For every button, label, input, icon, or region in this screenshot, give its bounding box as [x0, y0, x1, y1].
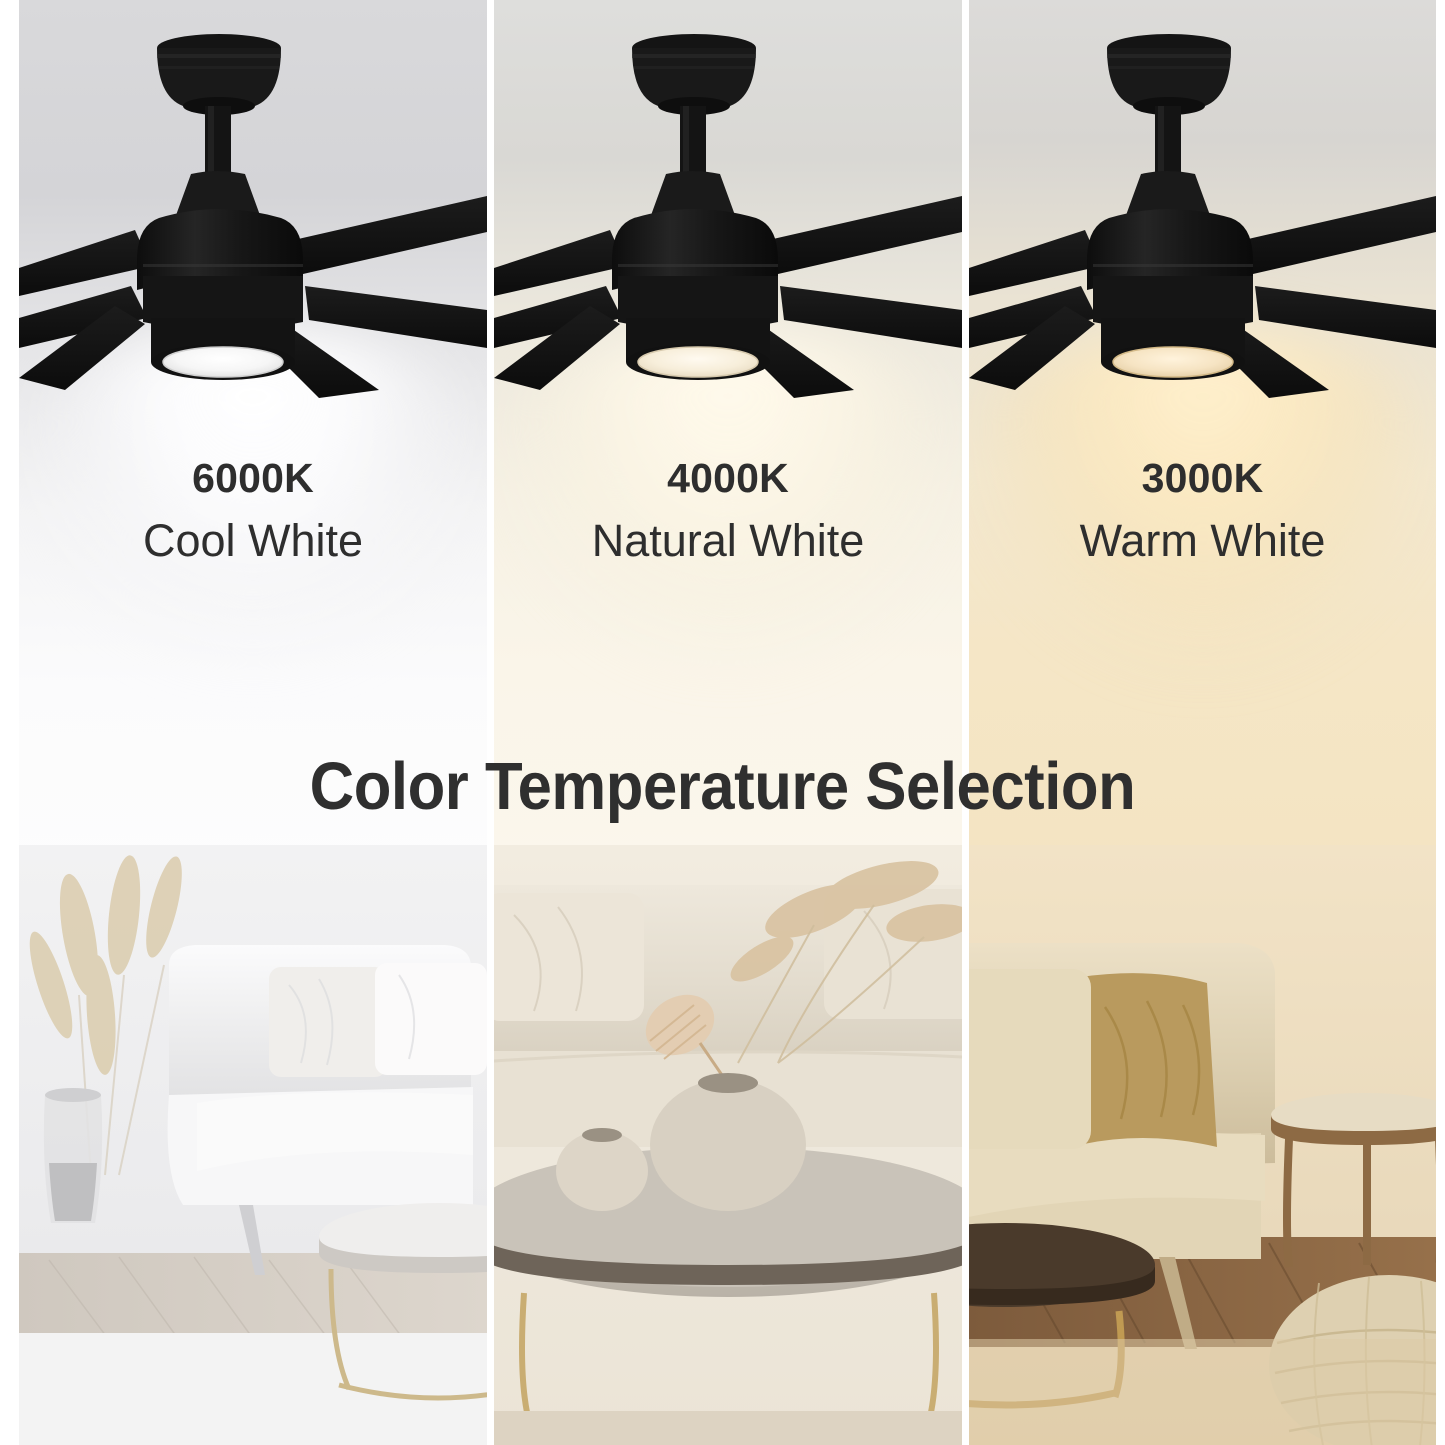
ceiling-fan-natural — [494, 18, 962, 398]
color-name: Warm White — [969, 512, 1436, 571]
ceiling-canopy — [1107, 34, 1231, 115]
led-light-panel — [638, 347, 758, 377]
label-block-natural: 4000K Natural White — [494, 455, 962, 571]
ceiling-fan-warm — [969, 18, 1436, 398]
color-name: Natural White — [494, 512, 962, 571]
kelvin-value: 6000K — [19, 455, 487, 502]
temperature-panels: 6000K Cool White — [19, 0, 1436, 1445]
room-scene-cool — [19, 845, 487, 1445]
panel-cool-white[interactable]: 6000K Cool White — [19, 0, 487, 1445]
kelvin-value: 4000K — [494, 455, 962, 502]
room-scene-natural — [494, 845, 962, 1445]
led-light-panel — [1113, 347, 1233, 377]
kelvin-value: 3000K — [969, 455, 1436, 502]
gold-velvet-pillow — [1071, 973, 1217, 1147]
glass-vase — [44, 1088, 102, 1223]
pillow — [375, 963, 487, 1075]
page-title: Color Temperature Selection — [58, 748, 1387, 825]
panel-natural-white[interactable]: 4000K Natural White — [494, 0, 962, 1445]
product-infographic: 6000K Cool White — [0, 0, 1445, 1445]
ceiling-fan-cool — [19, 18, 487, 398]
ceiling-canopy — [632, 34, 756, 115]
ceiling-canopy — [157, 34, 281, 115]
label-block-cool: 6000K Cool White — [19, 455, 487, 571]
color-name: Cool White — [19, 512, 487, 571]
led-light-panel — [163, 347, 283, 377]
panel-warm-white[interactable]: 3000K Warm White — [969, 0, 1436, 1445]
label-block-warm: 3000K Warm White — [969, 455, 1436, 571]
room-scene-warm — [969, 845, 1436, 1445]
